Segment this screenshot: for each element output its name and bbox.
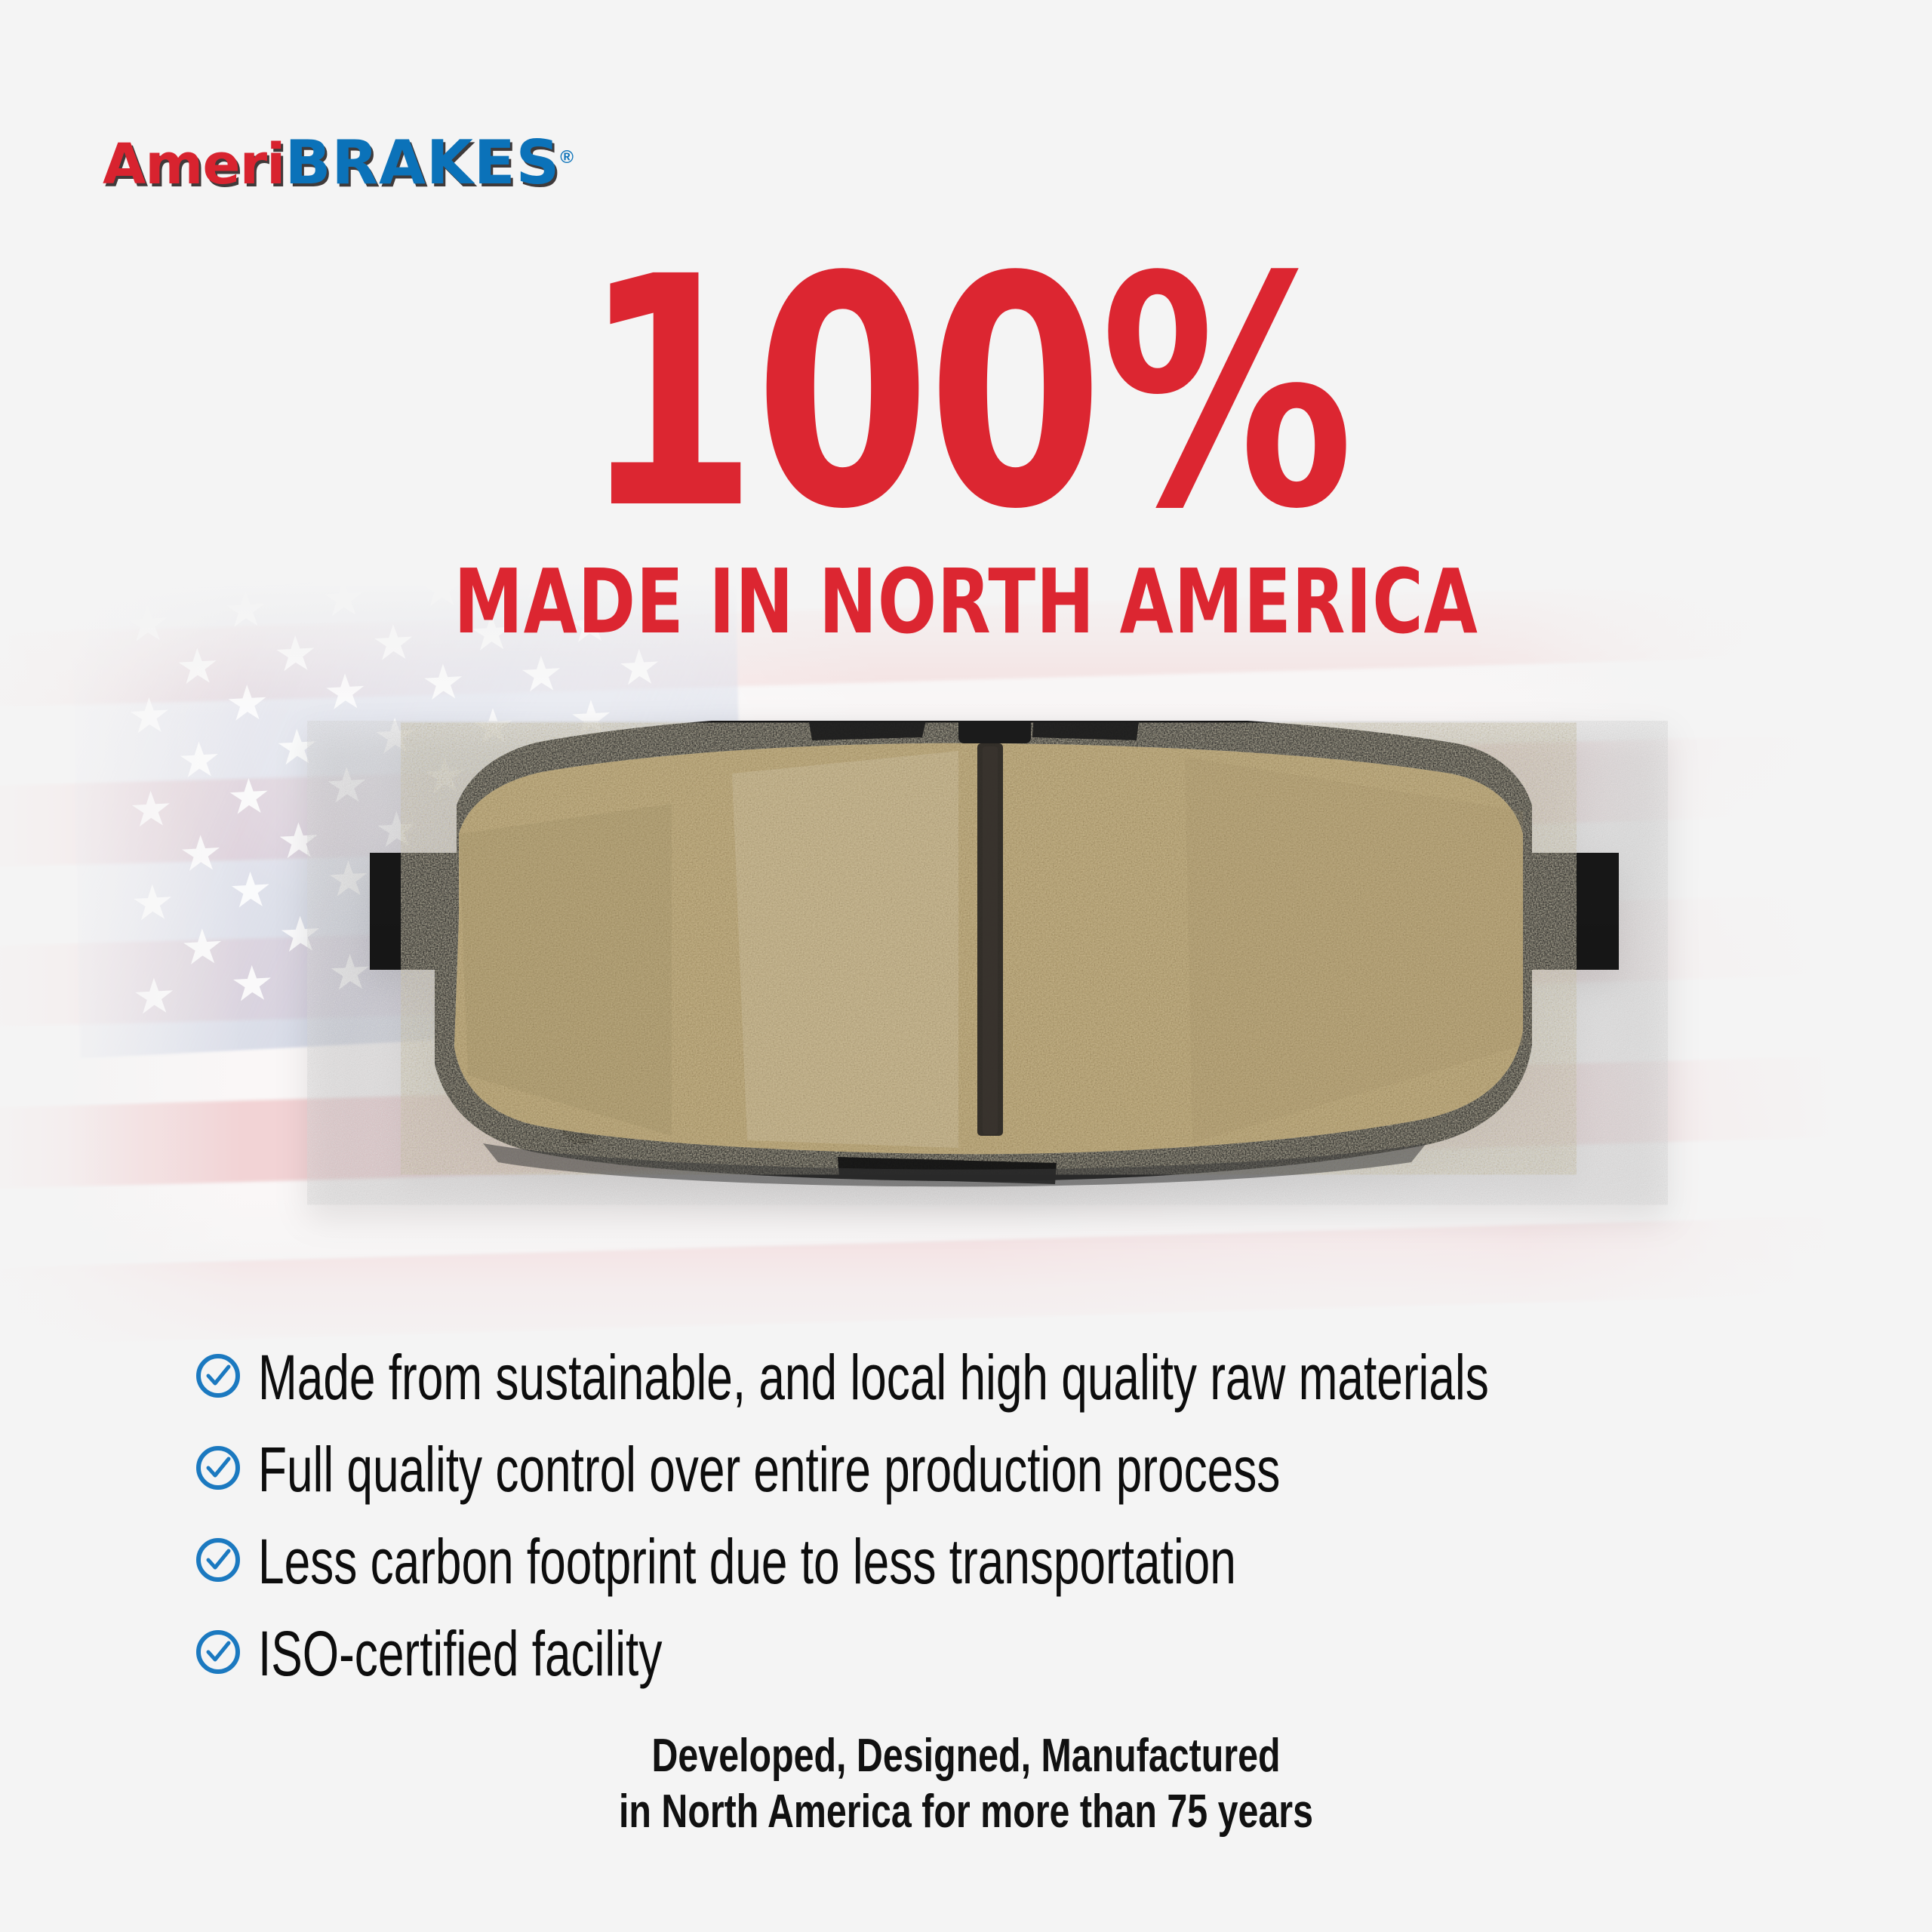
list-item: Made from sustainable, and local high qu… (195, 1345, 1780, 1410)
logo-text-brakes: BRAKES (285, 128, 560, 198)
logo-text-ameri: Ameri (103, 132, 285, 197)
brake-pad-image (279, 721, 1668, 1264)
check-circle-icon (195, 1444, 241, 1491)
check-circle-icon (195, 1352, 241, 1399)
benefits-list: Made from sustainable, and local high qu… (195, 1345, 1780, 1713)
top-notch-right (1032, 721, 1140, 740)
check-circle-icon (195, 1629, 241, 1675)
benefit-text: Full quality control over entire product… (258, 1437, 1280, 1502)
brand-logo[interactable]: AmeriBRAKES® (103, 133, 573, 193)
footer-line-1: Developed, Designed, Manufactured (213, 1728, 1720, 1784)
benefit-text: Less carbon footprint due to less transp… (258, 1529, 1236, 1594)
footer-block: Developed, Designed, Manufactured in Nor… (0, 1728, 1932, 1840)
top-notch-left (808, 721, 928, 740)
benefit-text: ISO-certified facility (258, 1621, 662, 1686)
headline-percent: 100% (193, 249, 1739, 540)
list-item: Full quality control over entire product… (195, 1437, 1780, 1502)
headline-block: 100% MADE IN NORTH AMERICA (0, 249, 1932, 646)
headline-subtitle: MADE IN NORTH AMERICA (213, 557, 1720, 646)
check-circle-icon (195, 1537, 241, 1583)
benefit-text: Made from sustainable, and local high qu… (258, 1345, 1489, 1410)
footer-line-2: in North America for more than 75 years (213, 1784, 1720, 1840)
list-item: ISO-certified facility (195, 1621, 1780, 1686)
product-marketing-canvas: AmeriBRAKES® 100% MADE IN NORTH AMERICA (0, 0, 1932, 1932)
list-item: Less carbon footprint due to less transp… (195, 1529, 1780, 1594)
registered-trademark-icon: ® (560, 147, 573, 168)
